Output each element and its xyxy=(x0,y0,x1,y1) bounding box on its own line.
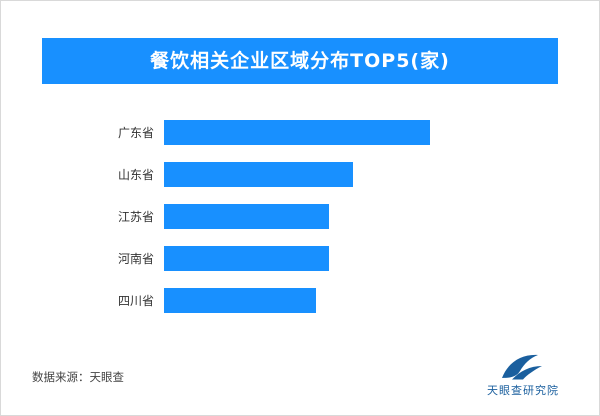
bar-track xyxy=(164,238,558,280)
category-label: 四川省 xyxy=(42,295,164,307)
bar-value xyxy=(164,120,430,145)
category-label: 广东省 xyxy=(42,127,164,139)
bar-track xyxy=(164,280,558,322)
category-label: 山东省 xyxy=(42,169,164,181)
bar-track xyxy=(164,112,558,154)
chart-row: 江苏省 xyxy=(42,196,558,238)
bar-value xyxy=(164,162,353,187)
page-title: 餐饮相关企业区域分布TOP5(家) xyxy=(150,52,450,71)
bar-value xyxy=(164,288,316,313)
infographic-page: 餐饮相关企业区域分布TOP5(家) 广东省 山东省 江苏省 河南省 xyxy=(0,0,600,416)
category-label: 江苏省 xyxy=(42,211,164,223)
data-source-note: 数据来源：天眼查 xyxy=(32,372,124,384)
bar-track xyxy=(164,154,558,196)
title-banner: 餐饮相关企业区域分布TOP5(家) xyxy=(42,38,558,84)
category-label: 河南省 xyxy=(42,253,164,265)
chart-row: 四川省 xyxy=(42,280,558,322)
chart-row: 山东省 xyxy=(42,154,558,196)
bar-track xyxy=(164,196,558,238)
brand-block: 天眼查研究院 xyxy=(468,352,578,404)
brand-name: 天眼查研究院 xyxy=(487,385,559,396)
bar-value xyxy=(164,204,329,229)
eagle-logo-icon xyxy=(500,352,546,382)
bar-value xyxy=(164,246,329,271)
chart-row: 河南省 xyxy=(42,238,558,280)
bar-chart: 广东省 山东省 江苏省 河南省 四川省 xyxy=(42,112,558,322)
chart-row: 广东省 xyxy=(42,112,558,154)
